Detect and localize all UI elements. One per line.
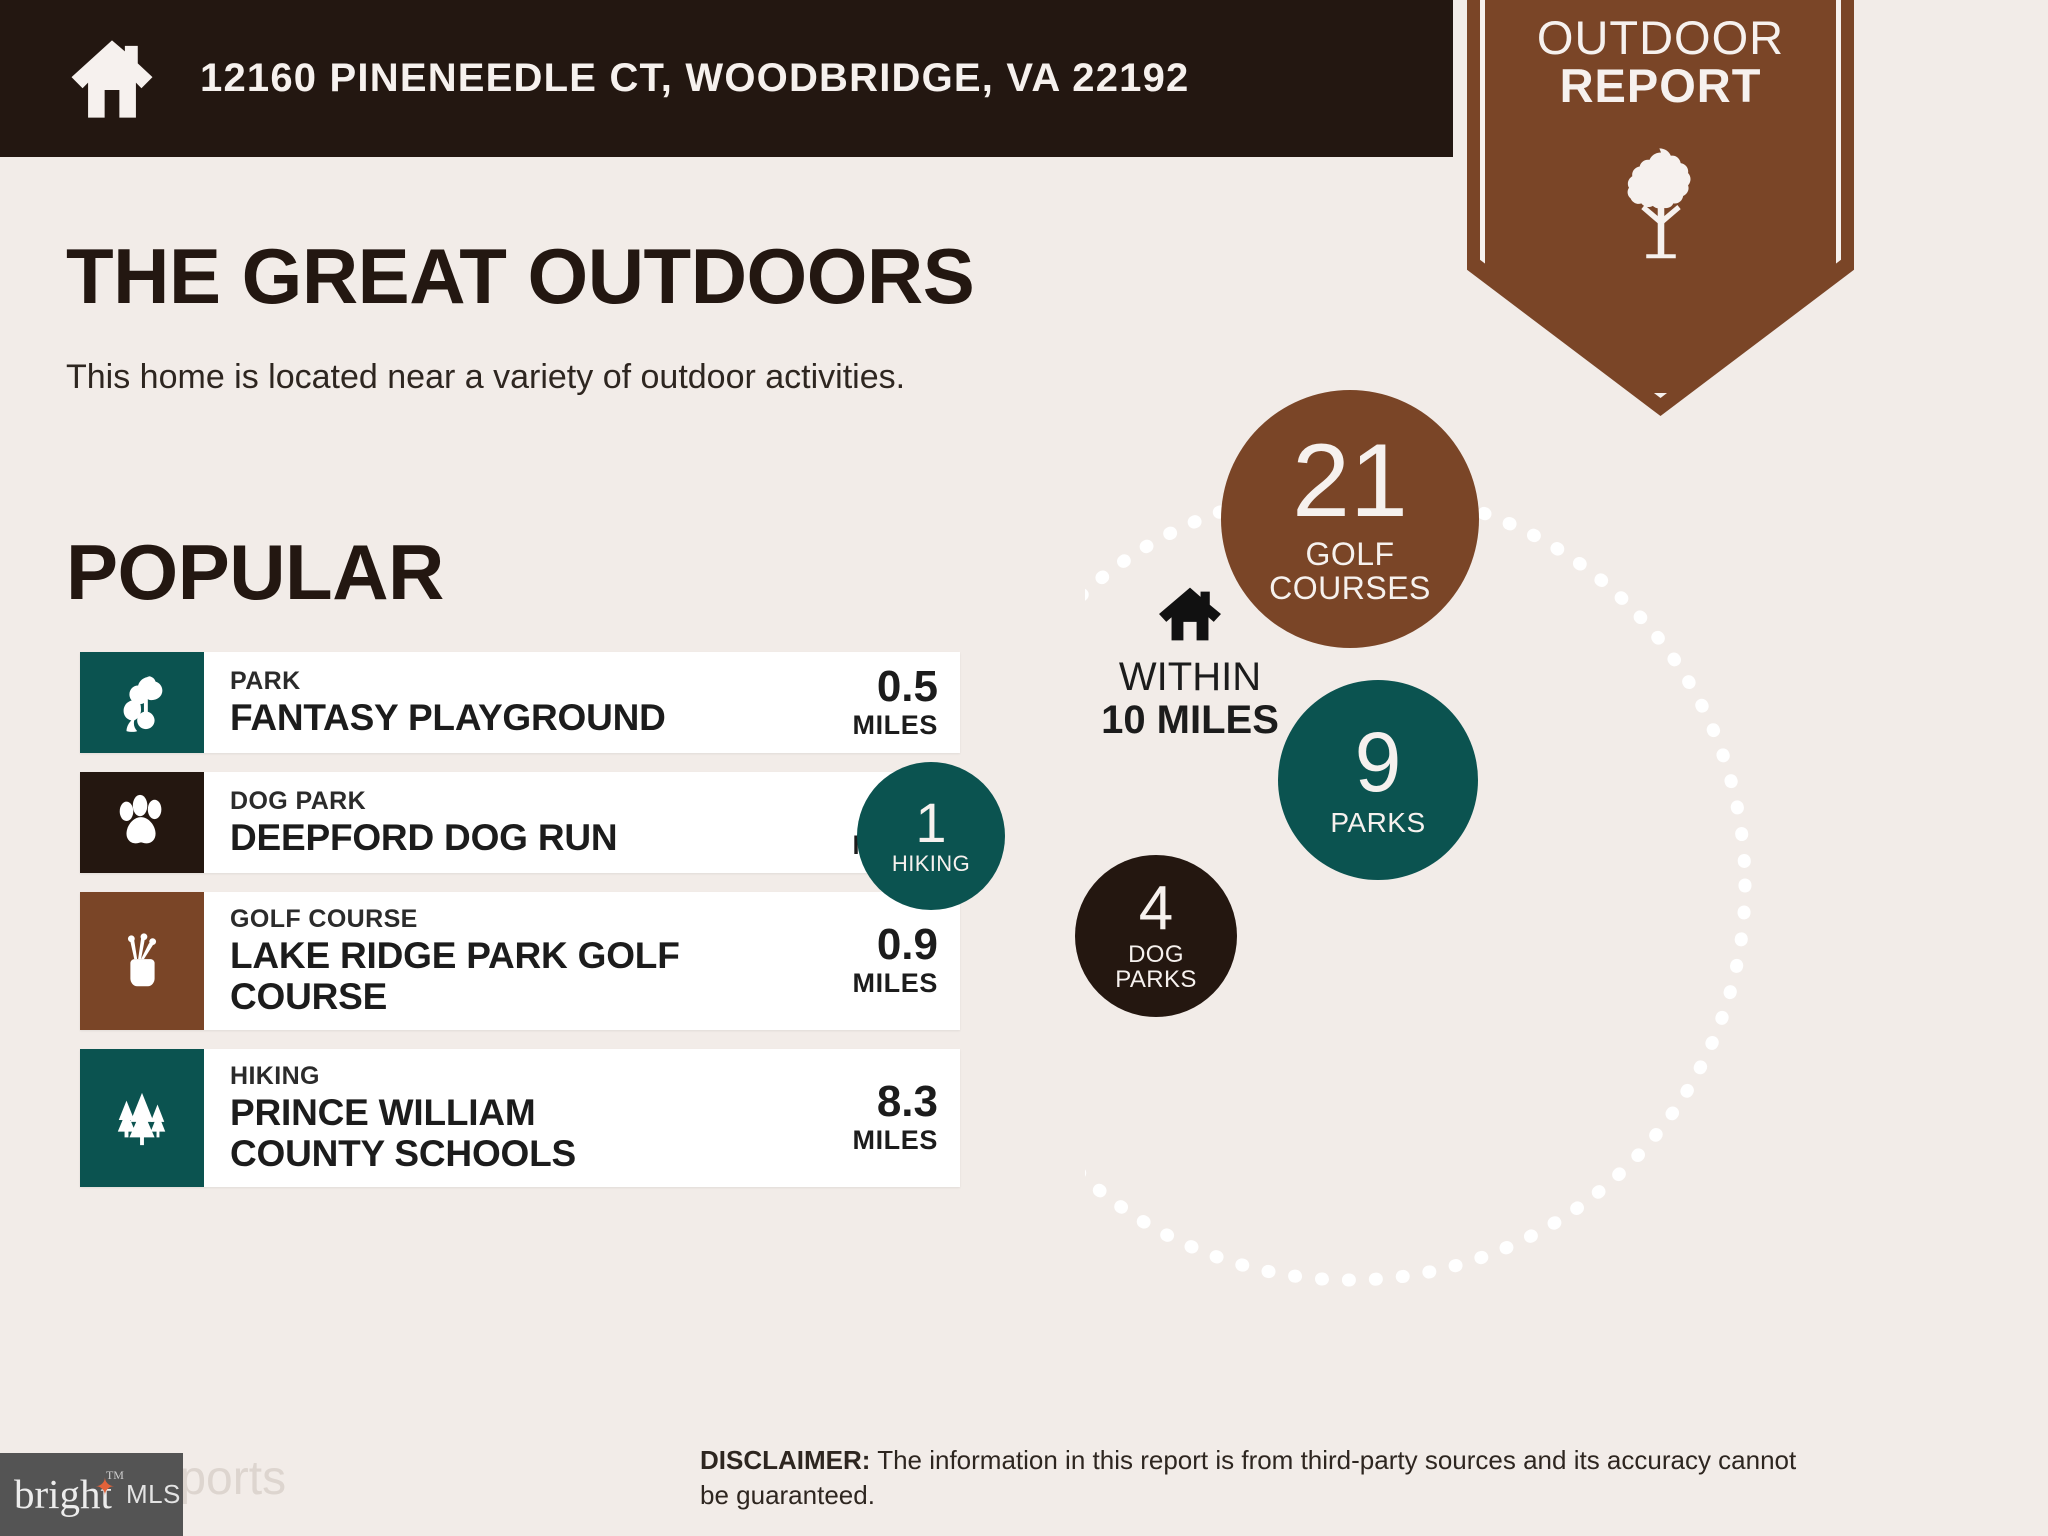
poi-icon-tile: [80, 652, 204, 753]
poi-texts: PARK FANTASY PLAYGROUND: [230, 666, 666, 739]
poi-icon-tile: [80, 1049, 204, 1187]
diagram-center: WITHIN 10 MILES: [1040, 585, 1340, 742]
poi-body: HIKING PRINCE WILLIAM COUNTY SCHOOLS 8.3…: [204, 1049, 960, 1187]
pine-trees-icon: [111, 1087, 173, 1149]
stat-label: PARKS: [1330, 808, 1425, 838]
bright-mls-wordmark: bright ✦ TM: [14, 1474, 112, 1515]
stat-label-line2: PARKS: [1115, 967, 1197, 992]
home-icon: [1157, 585, 1223, 643]
poi-icon-tile: [80, 892, 204, 1030]
poi-distance-value: 0.5: [852, 664, 938, 710]
golf-bag-icon: [111, 930, 173, 992]
poi-texts: DOG PARK DEEPFORD DOG RUN: [230, 786, 617, 859]
poi-distance: 8.3 MILES: [834, 1079, 938, 1156]
stat-circle-dog-parks[interactable]: 4 DOG PARKS: [1075, 855, 1237, 1017]
stat-label-line1: DOG: [1115, 942, 1197, 967]
popular-poi-list: PARK FANTASY PLAYGROUND 0.5 MILES DOG PA…: [80, 652, 960, 1206]
tree-icon: [1620, 146, 1702, 264]
poi-texts: GOLF COURSE LAKE RIDGE PARK GOLF COURSE: [230, 904, 834, 1018]
stat-label-line1: GOLF: [1269, 538, 1431, 572]
poi-name: DEEPFORD DOG RUN: [230, 817, 617, 858]
stat-circle-hiking[interactable]: 1 HIKING: [857, 762, 1005, 910]
poi-category: DOG PARK: [230, 786, 617, 817]
poi-name: LAKE RIDGE PARK GOLF COURSE: [230, 935, 834, 1018]
stat-value: 4: [1139, 880, 1173, 939]
stat-value: 21: [1292, 432, 1408, 531]
popular-heading: POPULAR: [66, 527, 444, 618]
poi-category: HIKING: [230, 1061, 660, 1092]
poi-distance: 0.5 MILES: [834, 664, 938, 741]
header-bar: 12160 PINENEEDLE CT, WOODBRIDGE, VA 2219…: [0, 0, 1453, 157]
outdoor-report-badge: OUTDOOR REPORT: [1467, 0, 1854, 416]
poi-body: DOG PARK DEEPFORD DOG RUN 0.5 MILES: [204, 772, 960, 873]
badge-title-line2: REPORT: [1467, 62, 1854, 110]
poi-name: FANTASY PLAYGROUND: [230, 697, 666, 738]
stat-value: 1: [915, 796, 946, 849]
page-subtitle: This home is located near a variety of o…: [66, 358, 905, 397]
dotted-ring-path: [1085, 455, 1985, 1315]
poi-distance-unit: MILES: [852, 710, 938, 741]
within-label-line1: WITHIN: [1040, 656, 1340, 699]
trademark-mark: TM: [106, 1469, 124, 1481]
poi-category: GOLF COURSE: [230, 904, 834, 935]
bright-mls-suffix: MLS: [126, 1479, 181, 1510]
poi-body: PARK FANTASY PLAYGROUND 0.5 MILES: [204, 652, 960, 753]
poi-icon-tile: [80, 772, 204, 873]
within-label-line2: 10 MILES: [1040, 699, 1340, 742]
stat-label: DOG PARKS: [1115, 942, 1197, 993]
poi-distance-value: 8.3: [852, 1079, 938, 1125]
poi-body: GOLF COURSE LAKE RIDGE PARK GOLF COURSE …: [204, 892, 960, 1030]
park-tree-icon: [111, 671, 173, 733]
disclaimer: DISCLAIMER: The information in this repo…: [700, 1443, 1820, 1513]
poi-distance-unit: MILES: [852, 1125, 938, 1156]
within-10-miles-diagram: 21 GOLF COURSES 9 PARKS 4 DOG PARKS 1 HI…: [1085, 455, 1985, 1315]
home-icon: [66, 33, 158, 125]
poi-distance: 0.9 MILES: [834, 922, 938, 999]
property-address: 12160 PINENEEDLE CT, WOODBRIDGE, VA 2219…: [200, 56, 1190, 101]
stat-label: HIKING: [892, 852, 970, 875]
page-title: THE GREAT OUTDOORS: [66, 231, 974, 322]
list-item[interactable]: HIKING PRINCE WILLIAM COUNTY SCHOOLS 8.3…: [80, 1049, 960, 1187]
poi-distance-value: 0.9: [852, 922, 938, 968]
poi-distance-unit: MILES: [852, 968, 938, 999]
list-item[interactable]: DOG PARK DEEPFORD DOG RUN 0.5 MILES: [80, 772, 960, 873]
list-item[interactable]: GOLF COURSE LAKE RIDGE PARK GOLF COURSE …: [80, 892, 960, 1030]
poi-category: PARK: [230, 666, 666, 697]
poi-texts: HIKING PRINCE WILLIAM COUNTY SCHOOLS: [230, 1061, 660, 1175]
paw-print-icon: [111, 791, 173, 853]
badge-title-line1: OUTDOOR: [1467, 14, 1854, 62]
list-item[interactable]: PARK FANTASY PLAYGROUND 0.5 MILES: [80, 652, 960, 753]
stat-value: 9: [1355, 723, 1402, 803]
badge-title: OUTDOOR REPORT: [1467, 14, 1854, 110]
bright-mls-logo[interactable]: bright ✦ TM MLS: [0, 1453, 183, 1536]
disclaimer-label: DISCLAIMER:: [700, 1445, 870, 1475]
poi-name: PRINCE WILLIAM COUNTY SCHOOLS: [230, 1092, 660, 1175]
